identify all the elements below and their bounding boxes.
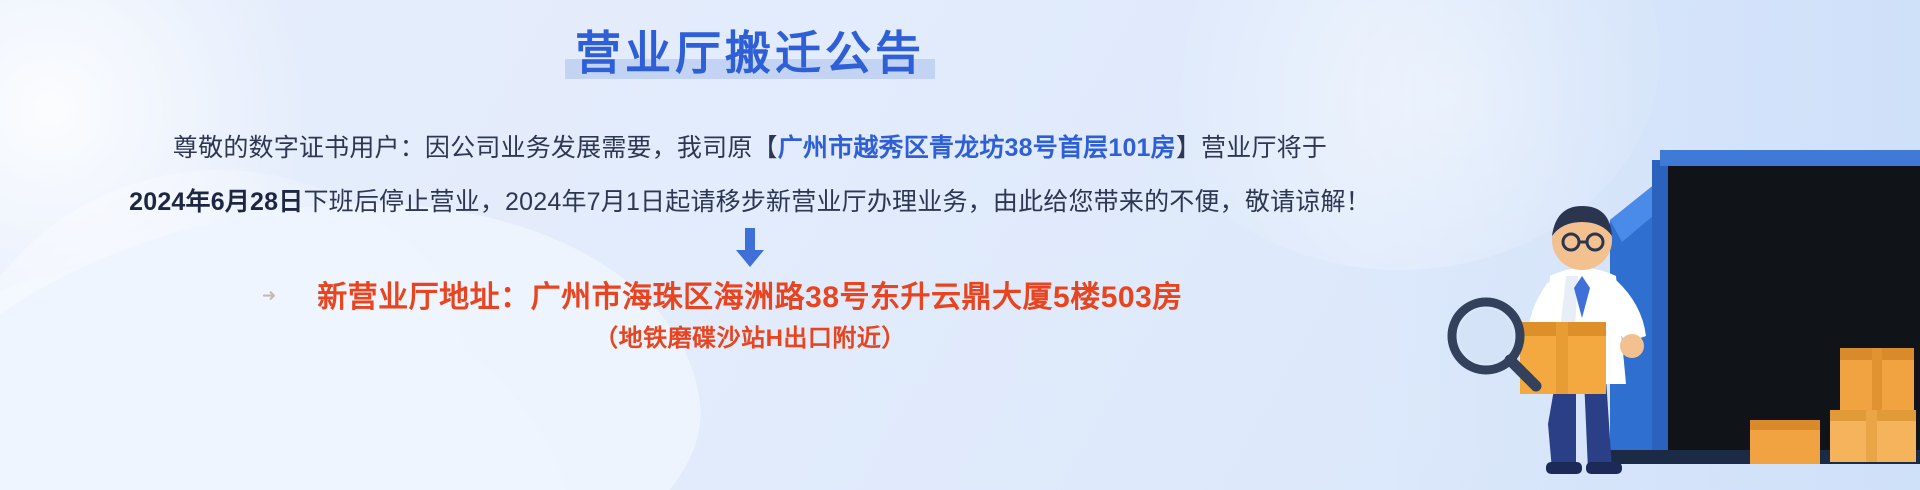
- truck-frame: [1652, 160, 1668, 460]
- truck-roof: [1660, 150, 1920, 166]
- relocation-notice-banner: 营业厅搬迁公告 尊敬的数字证书用户：因公司业务发展需要，我司原【广州市越秀区青龙…: [0, 0, 1920, 490]
- notice-line-2: 2024年6月28日下班后停止营业，2024年7月1日起请移步新营业厅办理业务，…: [0, 186, 1500, 220]
- notice-line1-prefix: 尊敬的数字证书用户：因公司业务发展需要，我司原【: [173, 134, 778, 162]
- old-office-address: 广州市越秀区青龙坊38号首层101房: [778, 134, 1176, 162]
- arrow-down-wrap: [0, 228, 1500, 273]
- closing-date: 2024年6月28日: [129, 188, 303, 216]
- new-office-address-note: （地铁磨碟沙站H出口附近）: [0, 318, 1500, 353]
- moving-truck-illustration: [1360, 90, 1920, 490]
- notice-line2-rest: 下班后停止营业，2024年7月1日起请移步新营业厅办理业务，由此给您带来的不便，…: [303, 188, 1370, 216]
- new-office-address: 新营业厅地址：广州市海珠区海洲路38号东升云鼎大厦5楼503房: [0, 272, 1500, 316]
- page-title: 营业厅搬迁公告: [565, 26, 935, 81]
- notice-line-1: 尊敬的数字证书用户：因公司业务发展需要，我司原【广州市越秀区青龙坊38号首层10…: [0, 132, 1500, 166]
- banner-title-wrap: 营业厅搬迁公告: [0, 26, 1500, 81]
- notice-line1-suffix: 】营业厅将于: [1176, 134, 1327, 162]
- magnifier-icon: [1452, 302, 1536, 386]
- page-title-text: 营业厅搬迁公告: [575, 27, 925, 79]
- arrow-down-icon: [733, 228, 767, 268]
